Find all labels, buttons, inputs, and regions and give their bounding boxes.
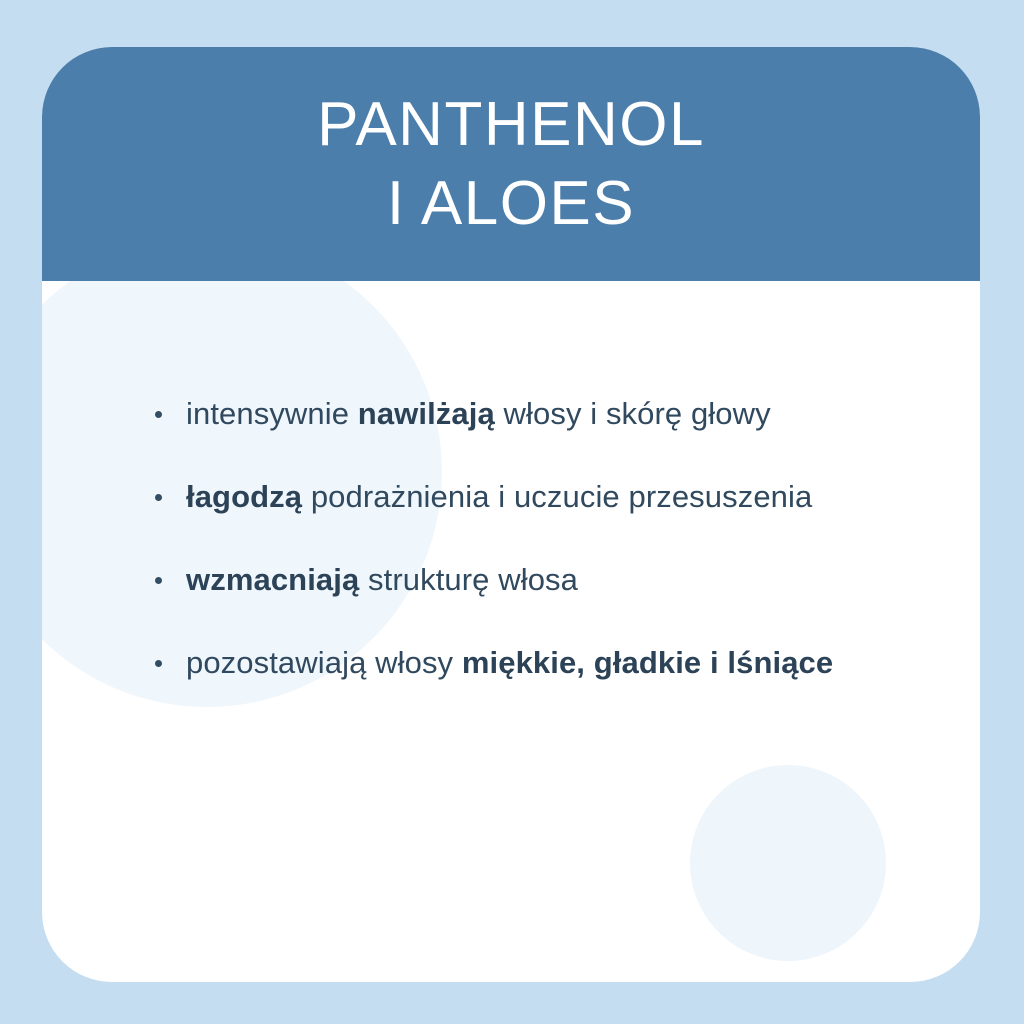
decorative-circle-small [690,765,886,961]
card-header: PANTHENOL I ALOES [42,47,980,281]
list-item: wzmacniają strukturę włosa [150,558,850,603]
page-title-line-2: I ALOES [387,164,635,243]
benefits-list: intensywnie nawilżają włosy i skórę głow… [150,392,850,686]
list-item: intensywnie nawilżają włosy i skórę głow… [150,392,850,437]
list-item-text: pozostawiają włosy miękkie, gładkie i lś… [186,645,833,680]
bullet-dot-icon [155,494,162,501]
page-title-line-1: PANTHENOL [317,85,705,164]
bullet-dot-icon [155,411,162,418]
list-item-text: intensywnie nawilżają włosy i skórę głow… [186,396,771,431]
list-item-text: wzmacniają strukturę włosa [186,562,578,597]
list-item: pozostawiają włosy miękkie, gładkie i lś… [150,641,850,686]
list-item: łagodzą podrażnienia i uczucie przesusze… [150,475,850,520]
info-card: PANTHENOL I ALOES intensywnie nawilżają … [42,47,980,982]
list-item-text: łagodzą podrażnienia i uczucie przesusze… [186,479,812,514]
bullet-dot-icon [155,660,162,667]
bullet-dot-icon [155,577,162,584]
slide-canvas: PANTHENOL I ALOES intensywnie nawilżają … [0,0,1024,1024]
